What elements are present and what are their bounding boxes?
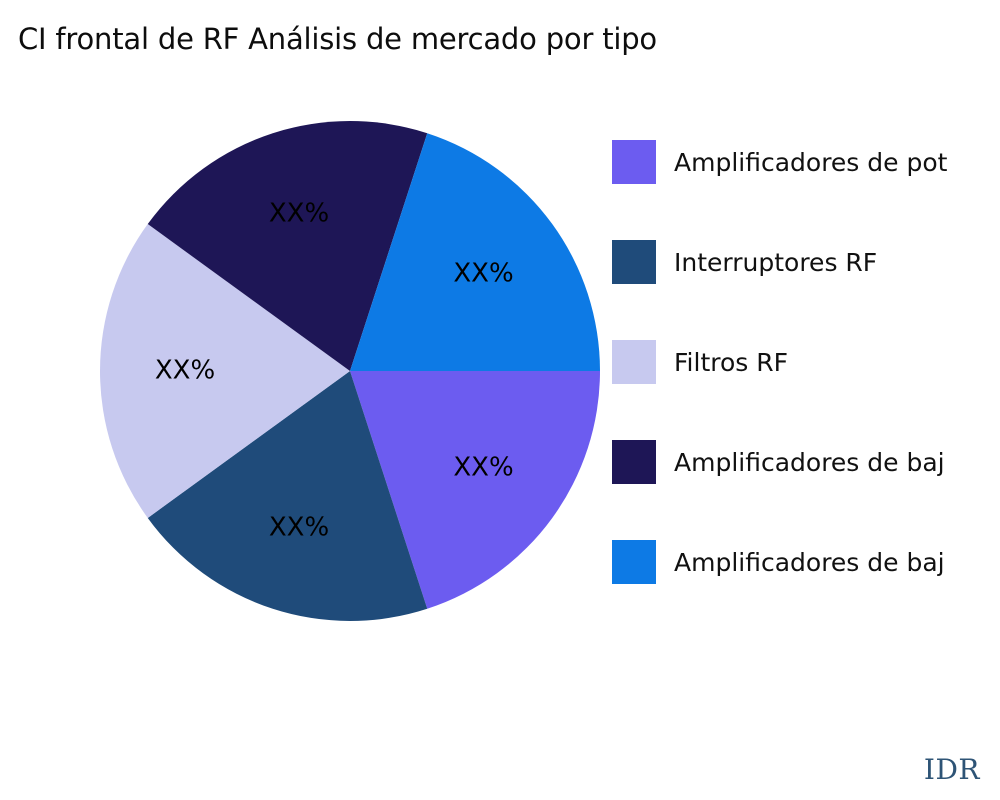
legend-swatch-amplificadores-de-potencia bbox=[612, 140, 656, 184]
pie-slice-label: XX% bbox=[453, 453, 513, 483]
watermark-idr: IDR bbox=[924, 753, 980, 786]
pie-slice-label: XX% bbox=[155, 356, 215, 386]
legend-item[interactable]: Filtros RF bbox=[612, 312, 1000, 412]
legend-item[interactable]: Interruptores RF bbox=[612, 212, 1000, 312]
legend-item-label: Amplificadores de pot bbox=[674, 150, 947, 175]
pie-slice-label: XX% bbox=[269, 199, 329, 229]
legend-swatch-interruptores-rf bbox=[612, 240, 656, 284]
pie-slice-label: XX% bbox=[453, 259, 513, 289]
legend: Amplificadores de potInterruptores RFFil… bbox=[612, 112, 1000, 612]
legend-item[interactable]: Amplificadores de baj bbox=[612, 512, 1000, 612]
legend-item[interactable]: Amplificadores de pot bbox=[612, 112, 1000, 212]
pie-svg: XX%XX%XX%XX%XX% bbox=[0, 0, 620, 700]
pie-plot-area: XX%XX%XX%XX%XX% bbox=[0, 0, 620, 700]
legend-item-label: Amplificadores de baj bbox=[674, 550, 945, 575]
pie-chart-figure: CI frontal de RF Análisis de mercado por… bbox=[0, 0, 1000, 800]
legend-swatch-filtros-rf bbox=[612, 340, 656, 384]
legend-item-label: Amplificadores de baj bbox=[674, 450, 945, 475]
legend-item-label: Interruptores RF bbox=[674, 250, 877, 275]
legend-swatch-amplificadores-de-bajo-1 bbox=[612, 440, 656, 484]
legend-item-label: Filtros RF bbox=[674, 350, 788, 375]
legend-swatch-amplificadores-de-bajo-2 bbox=[612, 540, 656, 584]
legend-item[interactable]: Amplificadores de baj bbox=[612, 412, 1000, 512]
pie-slice-label: XX% bbox=[269, 512, 329, 542]
